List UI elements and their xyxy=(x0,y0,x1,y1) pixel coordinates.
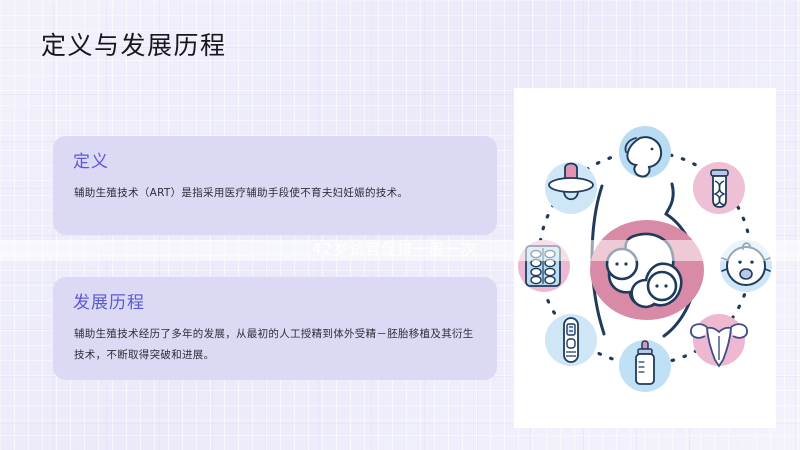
pregnancy-test-icon[interactable] xyxy=(545,314,597,366)
page-title: 定义与发展历程 xyxy=(41,30,227,62)
fetus-a-eye-left xyxy=(615,262,618,265)
baby-eye-left xyxy=(738,260,741,263)
card-history-heading: 发展历程 xyxy=(73,291,145,315)
pacifier-icon[interactable] xyxy=(545,162,597,214)
pill-blister-icon[interactable] xyxy=(518,240,570,292)
card-definition-body: 辅助生殖技术（ART）是指采用医疗辅助手段使不育夫妇妊娠的技术。 xyxy=(74,183,479,204)
uterus-ovary-left xyxy=(691,324,707,338)
card-history: 发展历程 辅助生殖技术经历了多年的发展，从最初的人工授精到体外受精－胚胎移植及其… xyxy=(53,277,497,380)
illustration-card xyxy=(514,88,776,428)
fetus-icon-eye xyxy=(651,148,654,151)
bottle-body xyxy=(636,354,654,384)
uterus-ovary-right xyxy=(731,324,747,338)
baby-face-icon[interactable] xyxy=(720,240,772,292)
assisted-reproduction-infographic xyxy=(514,88,776,428)
fetus-icon[interactable] xyxy=(619,126,671,178)
baby-bottle-icon[interactable] xyxy=(619,340,671,392)
bottle-nipple xyxy=(642,341,648,349)
pregnant-belly-with-twins xyxy=(590,184,704,336)
fetus-b-eye-right xyxy=(664,284,667,287)
fetus-b-head xyxy=(648,272,676,300)
slide-canvas: 定义与发展历程 定义 辅助生殖技术（ART）是指采用医疗辅助手段使不育夫妇妊娠的… xyxy=(0,0,800,450)
dna-test-tube-icon[interactable] xyxy=(693,162,745,214)
pregnancy-test-window xyxy=(567,324,575,335)
baby-eye-right xyxy=(750,260,753,263)
uterus-icon[interactable] xyxy=(691,314,747,366)
card-history-body: 辅助生殖技术经历了多年的发展，从最初的人工授精到体外受精－胚胎移植及其衍生技术，… xyxy=(74,324,479,366)
card-definition: 定义 辅助生殖技术（ART）是指采用医疗辅助手段使不育夫妇妊娠的技术。 xyxy=(53,136,497,235)
fetus-b-eye-left xyxy=(655,284,658,287)
card-definition-heading: 定义 xyxy=(73,150,109,174)
fetus-a-head xyxy=(607,249,637,279)
fetus-a-eye-right xyxy=(624,262,627,265)
watermark-text: 42岁试管促排一般一次 xyxy=(312,238,477,260)
pacifier-shield xyxy=(549,178,593,192)
pregnancy-test-grip xyxy=(567,339,575,348)
baby-pacifier-mouth xyxy=(740,269,752,279)
